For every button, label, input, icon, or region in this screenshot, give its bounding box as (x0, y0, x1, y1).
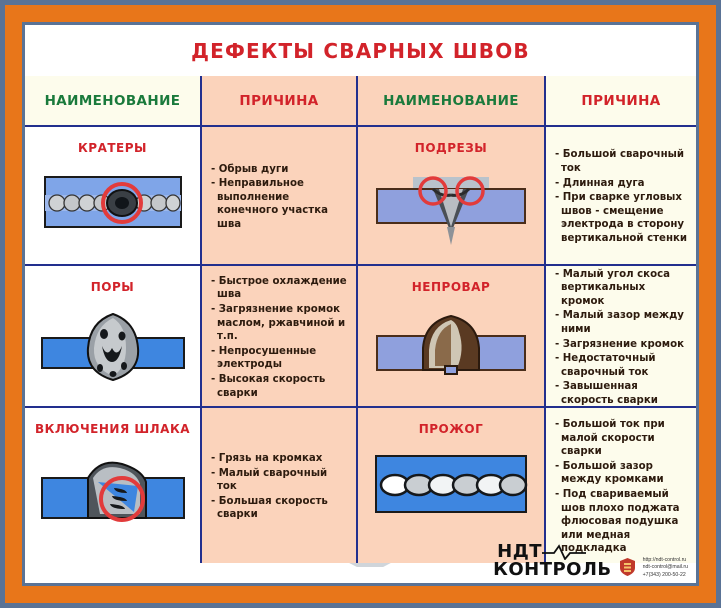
cause-list: - Малый угол скоса вертикальных кромок -… (555, 268, 689, 408)
table-row: - Большой ток при малой скорости сварки … (546, 408, 696, 563)
table-row: - Грязь на кромках - Малый сварочный ток… (202, 408, 358, 563)
cause-list: - Грязь на кромках - Малый сварочный ток… (211, 452, 349, 523)
table-row: - Большой сварочный ток - Длинная дуга -… (546, 127, 696, 266)
column-header-label: ПРИЧИНА (239, 93, 318, 109)
column-header-name-2: НАИМЕНОВАНИЕ (358, 76, 546, 127)
cause-list: - Быстрое охлаждение шва - Загрязнение к… (211, 275, 349, 401)
logo-control-text: КОНТРОЛЬ (493, 559, 612, 580)
cause-item: - Непросушенные электроды (211, 345, 349, 372)
cause-item: - Неправильное выполнение конечного учас… (211, 177, 349, 231)
crater-weld-bead-icon (43, 171, 183, 233)
shield-icon (619, 557, 636, 577)
table-row: ПРОЖОГ (358, 408, 546, 563)
cause-item: - Быстрое охлаждение шва (211, 275, 349, 302)
table-row: ПОДРЕЗЫ (358, 127, 546, 266)
logo-website: http://ndt-control.ru (643, 557, 688, 564)
cause-item: - Малый сварочный ток (211, 467, 349, 494)
table-row: - Малый угол скоса вертикальных кромок -… (546, 266, 696, 408)
defect-name-label: ВКЛЮЧЕНИЯ ШЛАКА (35, 422, 190, 436)
cause-item: - Малый зазор между ними (555, 309, 689, 336)
slag-inclusion-weld-section-icon (38, 452, 188, 528)
table-row: ВКЛЮЧЕНИЯ ШЛАКА (25, 408, 202, 563)
column-header-label: ПРИЧИНА (581, 93, 660, 109)
defect-name-label: ПРОЖОГ (419, 422, 484, 436)
column-header-name-1: НАИМЕНОВАНИЕ (25, 76, 202, 127)
lack-of-fusion-weld-section-icon (371, 310, 531, 386)
logo-phone: +7(343) 200-50-22 (643, 572, 688, 579)
defect-name-label: КРАТЕРЫ (78, 141, 147, 155)
cause-item: - Малый угол скоса вертикальных кромок (555, 268, 689, 309)
cause-item: - Высокая скорость сварки (211, 373, 349, 400)
cause-item: - При сварке угловых швов - смещение эле… (555, 191, 689, 245)
waveform-icon (542, 544, 586, 560)
cause-item: - Большой ток при малой скорости сварки (555, 418, 689, 459)
logo-email: ndt-control@mail.ru (643, 564, 688, 571)
defect-name-label: НЕПРОВАР (412, 280, 491, 294)
cause-item: - Большая скорость сварки (211, 495, 349, 522)
table-row: - Обрыв дуги - Неправильное выполнение к… (202, 127, 358, 266)
poster-title: ДЕФЕКТЫ СВАРНЫХ ШВОВ (25, 25, 696, 76)
table-row: - Быстрое охлаждение шва - Загрязнение к… (202, 266, 358, 408)
column-header-label: НАИМЕНОВАНИЕ (45, 93, 181, 109)
poster: ДЕФЕКТЫ СВАРНЫХ ШВОВ НАИМЕНОВАНИЕ ПРИЧИН… (0, 0, 721, 608)
table-row: НЕПРОВАР (358, 266, 546, 408)
porosity-weld-section-icon (38, 310, 188, 386)
logo-contact-block: http://ndt-control.ru ndt-control@mail.r… (643, 557, 688, 579)
poster-title-text: ДЕФЕКТЫ СВАРНЫХ ШВОВ (191, 39, 530, 63)
undercut-weld-section-icon (371, 171, 531, 249)
company-logo: НДТ КОНТРОЛЬ http://ndt-control.ru ndt-c… (497, 543, 688, 579)
cause-item: - Загрязнение кромок маслом, ржавчиной и… (211, 303, 349, 344)
defects-table: НАИМЕНОВАНИЕ ПРИЧИНА НАИМЕНОВАНИЕ ПРИЧИН… (25, 76, 696, 583)
cause-item: - Грязь на кромках (211, 452, 349, 466)
table-row: КРАТЕРЫ (25, 127, 202, 266)
defect-name-label: ПОРЫ (91, 280, 134, 294)
cause-list: - Большой ток при малой скорости сварки … (555, 418, 689, 557)
table-row: ПОРЫ (25, 266, 202, 408)
column-header-cause-2: ПРИЧИНА (546, 76, 696, 127)
cause-list: - Обрыв дуги - Неправильное выполнение к… (211, 163, 349, 233)
cause-list: - Большой сварочный ток - Длинная дуга -… (555, 148, 689, 246)
column-header-label: НАИМЕНОВАНИЕ (383, 93, 519, 109)
cause-item: - Завышенная скорость сварки (555, 380, 689, 407)
logo-line-2: КОНТРОЛЬ (497, 561, 612, 579)
cause-item: - Большой зазор между кромками (555, 460, 689, 487)
logo-wordmark: НДТ КОНТРОЛЬ (497, 543, 612, 579)
defect-name-label: ПОДРЕЗЫ (415, 141, 487, 155)
cause-item: - Большой сварочный ток (555, 148, 689, 175)
cause-item: - Недостаточный сварочный ток (555, 352, 689, 379)
cause-item: - Обрыв дуги (211, 163, 349, 177)
poster-sheet: ДЕФЕКТЫ СВАРНЫХ ШВОВ НАИМЕНОВАНИЕ ПРИЧИН… (25, 25, 696, 583)
burn-through-weld-bead-icon (371, 452, 531, 518)
column-header-cause-1: ПРИЧИНА (202, 76, 358, 127)
cause-item: - Длинная дуга (555, 177, 689, 191)
cause-item: - Загрязнение кромок (555, 338, 689, 352)
